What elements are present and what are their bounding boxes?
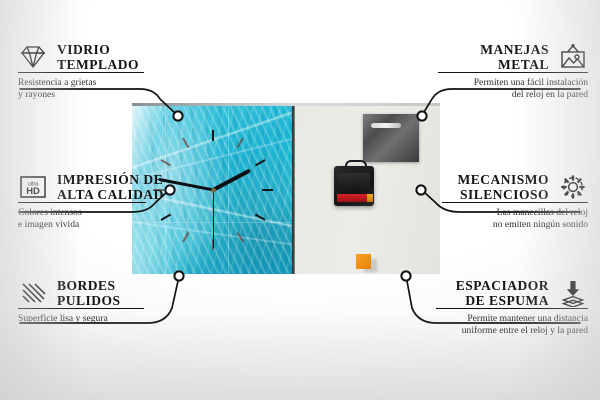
quartz-mechanism xyxy=(334,166,374,206)
clock-back-panel xyxy=(294,106,440,274)
callout-bordes-pulidos: BORDES PULIDOS Superficie lisa y segura xyxy=(18,278,144,325)
product-image xyxy=(132,106,440,274)
callout-title-line2: TEMPLADO xyxy=(57,57,139,72)
callout-rule xyxy=(18,308,144,309)
callout-sub-line1: Las manecillas del reloj xyxy=(442,207,588,219)
callout-title-line1: MANEJAS xyxy=(480,42,549,57)
callout-mecanismo-silencioso: MECANISMO SILENCIOSO Las manecillas del … xyxy=(442,172,588,231)
callout-rule xyxy=(442,202,588,203)
battery-terminal xyxy=(367,194,373,202)
callout-sub-line1: Colores intensos xyxy=(18,207,146,219)
battery xyxy=(337,194,369,202)
gear-icon xyxy=(558,173,588,201)
panel-seam xyxy=(292,106,295,274)
second-hand xyxy=(213,190,214,248)
callout-title-line1: BORDES xyxy=(57,278,121,293)
callout-sub-line1: Permite mantener una distancia xyxy=(436,313,588,325)
mechanism-handle xyxy=(345,160,367,170)
callout-sub-line2: no emiten ningún sonido xyxy=(442,219,588,231)
metal-hanger-plate-icon xyxy=(363,114,419,162)
svg-text:HD: HD xyxy=(26,185,40,196)
callout-title-line2: PULIDOS xyxy=(57,293,121,308)
callout-title-line1: ESPACIADOR xyxy=(456,278,549,293)
mechanism-body xyxy=(338,173,370,189)
hanger-slot xyxy=(371,123,401,128)
callout-impresion-alta-calidad: ultra HD IMPRESIÓN DE ALTA CALIDAD Color… xyxy=(18,172,146,231)
callout-vidrio-templado: VIDRIO TEMPLADO Resistencia a grietas y … xyxy=(18,42,144,101)
ultra-hd-icon: ultra HD xyxy=(18,173,48,201)
callout-title-line1: IMPRESIÓN DE xyxy=(57,172,164,187)
hand-center-cap xyxy=(211,188,216,193)
callout-rule xyxy=(436,308,588,309)
polished-edges-icon xyxy=(18,279,48,307)
callout-manejas-metal: MANEJAS METAL Permiten una fácil instala… xyxy=(438,42,588,101)
callout-sub-line2: e imagen vívida xyxy=(18,219,146,231)
callout-title-line2: METAL xyxy=(480,57,549,72)
diamond-icon xyxy=(18,43,48,71)
callout-sub-line2: del reloj en la pared xyxy=(438,89,588,101)
callout-rule xyxy=(18,72,144,73)
callout-rule xyxy=(438,72,588,73)
callout-sub-line2: uniforme entre el reloj y la pared xyxy=(436,325,588,337)
hanging-frame-icon xyxy=(558,43,588,71)
arrow-down-layers-icon xyxy=(558,279,588,307)
callout-title-line2: DE ESPUMA xyxy=(456,293,549,308)
infographic-canvas: VIDRIO TEMPLADO Resistencia a grietas y … xyxy=(0,0,600,400)
callout-rule xyxy=(18,202,146,203)
callout-title-line1: MECANISMO xyxy=(458,172,550,187)
foam-spacer xyxy=(356,254,371,269)
callout-title-line2: ALTA CALIDAD xyxy=(57,187,164,202)
callout-sub-line1: Permiten una fácil instalación xyxy=(438,77,588,89)
callout-sub-line1: Superficie lisa y segura xyxy=(18,313,144,325)
callout-sub-line2: y rayones xyxy=(18,89,144,101)
callout-title-line1: VIDRIO xyxy=(57,42,139,57)
callout-sub-line1: Resistencia a grietas xyxy=(18,77,144,89)
callout-title-line2: SILENCIOSO xyxy=(458,187,550,202)
callout-espaciador-de-espuma: ESPACIADOR DE ESPUMA Permite mantener un… xyxy=(436,278,588,337)
